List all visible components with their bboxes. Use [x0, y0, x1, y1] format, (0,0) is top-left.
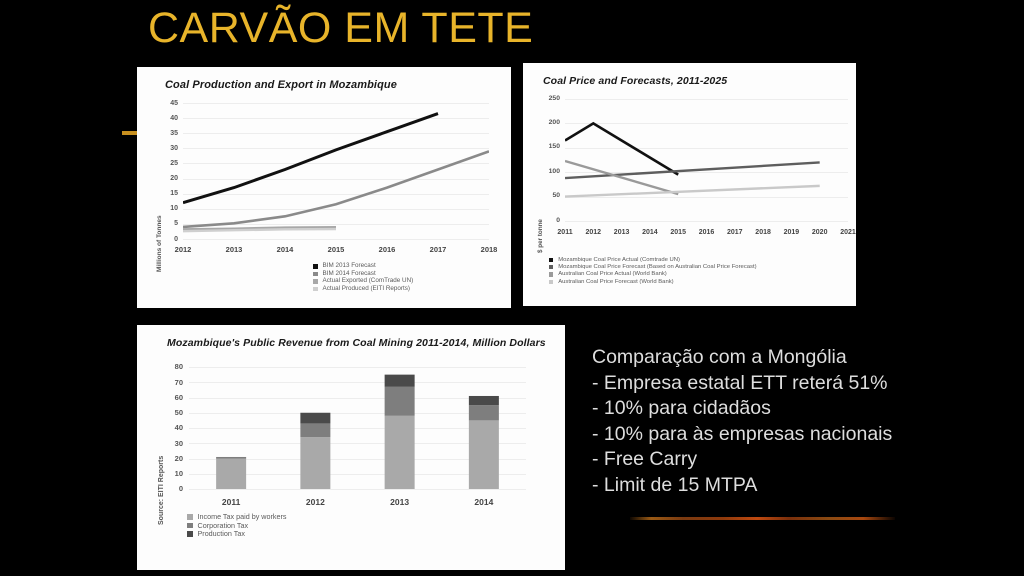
legend-item: Australian Coal Price Forecast (World Ba… — [549, 279, 757, 285]
chart1-legend: BIM 2013 ForecastBIM 2014 ForecastActual… — [313, 263, 413, 293]
legend-swatch-icon — [549, 265, 553, 269]
y-tick-label: 0 — [542, 218, 560, 225]
chart1-plot-area — [183, 103, 489, 239]
chart3-plot-area — [189, 367, 526, 489]
bullet-item-1: - 10% para cidadãos — [592, 396, 1012, 422]
gridline — [189, 489, 526, 490]
y-tick-label: 20 — [167, 455, 183, 463]
legend-swatch-icon — [549, 272, 553, 276]
legend-item: Income Tax paid by workers — [187, 513, 286, 521]
comparison-text-block: Comparação com a Mongólia - Empresa esta… — [592, 345, 1012, 498]
legend-swatch-icon — [187, 514, 193, 520]
legend-swatch-icon — [187, 531, 193, 537]
legend-label: Income Tax paid by workers — [198, 513, 287, 521]
bar-segment — [216, 457, 246, 459]
gridline — [183, 239, 489, 240]
x-tick-label: 2017 — [416, 246, 460, 254]
x-tick-label: 2014 — [462, 498, 506, 507]
legend-label: Actual Produced (EITI Reports) — [323, 286, 411, 293]
decorative-accent-line — [630, 517, 895, 520]
legend-item: Corporation Tax — [187, 522, 286, 530]
legend-label: Mozambique Coal Price Actual (Comtrade U… — [558, 257, 680, 263]
legend-label: BIM 2014 Forecast — [323, 271, 376, 278]
x-tick-label: 2021 — [826, 229, 856, 236]
chart-title-coal-production: Coal Production and Export in Mozambique — [165, 79, 397, 91]
y-tick-label: 150 — [542, 144, 560, 151]
chart3-legend: Income Tax paid by workersCorporation Ta… — [187, 513, 286, 539]
legend-label: Australian Coal Price Actual (World Bank… — [558, 271, 667, 277]
chart-panel-coal-production: Coal Production and Export in Mozambique… — [137, 67, 511, 308]
chart-title-coal-price: Coal Price and Forecasts, 2011-2025 — [543, 75, 727, 87]
y-tick-label: 5 — [162, 220, 178, 227]
legend-swatch-icon — [313, 272, 318, 277]
bullet-heading: Comparação com a Mongólia — [592, 345, 1012, 371]
chart-title-public-revenue: Mozambique's Public Revenue from Coal Mi… — [167, 337, 546, 349]
legend-item: Production Tax — [187, 530, 286, 538]
y-tick-label: 80 — [167, 363, 183, 371]
bar-segment — [385, 387, 415, 416]
legend-swatch-icon — [313, 264, 318, 269]
legend-swatch-icon — [313, 287, 318, 292]
line-series-group — [565, 99, 848, 221]
y-tick-label: 250 — [542, 96, 560, 103]
gridline — [565, 221, 848, 222]
legend-label: Mozambique Coal Price Forecast (Based on… — [558, 264, 756, 270]
line-series-group — [183, 103, 489, 239]
y-tick-label: 20 — [162, 175, 178, 182]
y-tick-label: 15 — [162, 190, 178, 197]
bullet-item-3: - Free Carry — [592, 447, 1012, 473]
legend-label: Corporation Tax — [198, 522, 249, 530]
data-line — [565, 162, 820, 178]
bullet-item-4: - Limit de 15 MTPA — [592, 473, 1012, 499]
legend-item: BIM 2013 Forecast — [313, 263, 413, 270]
legend-label: Actual Exported (ComTrade UN) — [323, 278, 414, 285]
bar-segment — [385, 416, 415, 489]
y-tick-label: 50 — [167, 409, 183, 417]
slide-canvas: CARVÃO EM TETE Coal Production and Expor… — [0, 0, 1024, 576]
bar-segment — [300, 423, 330, 437]
chart2-plot-area — [565, 99, 848, 221]
legend-label: Production Tax — [198, 530, 245, 538]
y-tick-label: 0 — [167, 485, 183, 493]
chart-panel-public-revenue: Mozambique's Public Revenue from Coal Mi… — [137, 325, 565, 570]
y-tick-label: 10 — [162, 205, 178, 212]
legend-item: Australian Coal Price Actual (World Bank… — [549, 271, 757, 277]
y-tick-label: 100 — [542, 169, 560, 176]
data-line — [183, 114, 438, 203]
y-tick-label: 50 — [542, 193, 560, 200]
bar-segment — [300, 413, 330, 424]
legend-label: Australian Coal Price Forecast (World Ba… — [558, 279, 673, 285]
x-tick-label: 2018 — [467, 246, 511, 254]
y-tick-label: 35 — [162, 130, 178, 137]
y-tick-label: 25 — [162, 160, 178, 167]
legend-swatch-icon — [549, 258, 553, 262]
bar-segment — [385, 375, 415, 387]
x-tick-label: 2013 — [212, 246, 256, 254]
bar-segment — [216, 459, 246, 490]
legend-swatch-icon — [549, 280, 553, 284]
legend-item: Mozambique Coal Price Forecast (Based on… — [549, 264, 757, 270]
bar-segment — [469, 420, 499, 489]
legend-item: BIM 2014 Forecast — [313, 271, 413, 278]
x-tick-label: 2012 — [161, 246, 205, 254]
chart3-y-axis-label: Source: EITI Reports — [158, 456, 165, 525]
bar-segment — [469, 396, 499, 405]
y-tick-label: 60 — [167, 394, 183, 402]
legend-swatch-icon — [313, 279, 318, 284]
legend-item: Mozambique Coal Price Actual (Comtrade U… — [549, 257, 757, 263]
y-tick-label: 70 — [167, 379, 183, 387]
legend-label: BIM 2013 Forecast — [323, 263, 376, 270]
x-tick-label: 2016 — [365, 246, 409, 254]
bar-segment — [300, 437, 330, 489]
chart2-legend: Mozambique Coal Price Actual (Comtrade U… — [549, 257, 757, 286]
y-tick-label: 45 — [162, 100, 178, 107]
y-tick-label: 200 — [542, 120, 560, 127]
y-tick-label: 40 — [162, 115, 178, 122]
legend-swatch-icon — [187, 523, 193, 529]
x-tick-label: 2011 — [209, 498, 253, 507]
page-title: CARVÃO EM TETE — [148, 4, 533, 53]
y-tick-label: 30 — [162, 145, 178, 152]
bullet-item-2: - 10% para às empresas nacionais — [592, 422, 1012, 448]
x-tick-label: 2013 — [378, 498, 422, 507]
x-tick-label: 2012 — [293, 498, 337, 507]
y-tick-label: 0 — [162, 236, 178, 243]
y-tick-label: 30 — [167, 440, 183, 448]
bar-segment — [469, 405, 499, 420]
data-line — [565, 186, 820, 197]
x-tick-label: 2014 — [263, 246, 307, 254]
y-tick-label: 40 — [167, 424, 183, 432]
y-tick-label: 10 — [167, 470, 183, 478]
bullet-item-0: - Empresa estatal ETT reterá 51% — [592, 371, 1012, 397]
legend-item: Actual Exported (ComTrade UN) — [313, 278, 413, 285]
bar-series-group — [189, 367, 526, 489]
legend-item: Actual Produced (EITI Reports) — [313, 286, 413, 293]
title-accent-dash — [122, 131, 138, 135]
x-tick-label: 2015 — [314, 246, 358, 254]
chart-panel-coal-price: Coal Price and Forecasts, 2011-2025 $ pe… — [523, 63, 856, 306]
